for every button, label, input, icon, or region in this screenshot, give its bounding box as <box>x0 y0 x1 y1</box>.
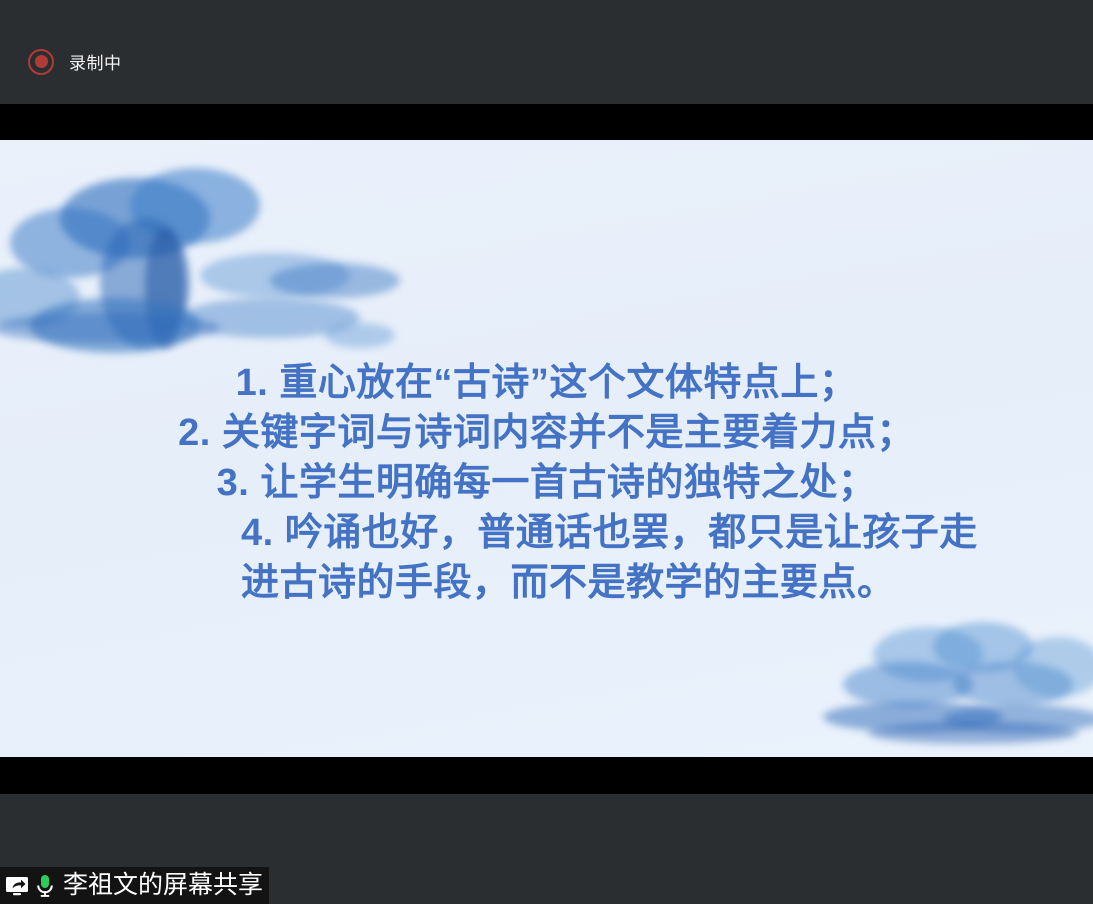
slide-line-4: 4. 吟诵也好，普通话也罢，都只是让孩子走进古诗的手段，而不是教学的主要点。 <box>196 508 993 608</box>
letterbox-bottom <box>0 757 1093 794</box>
slide-line-2: 2. 关键字词与诗词内容并不是主要着力点； <box>0 408 1093 458</box>
slide-line-1: 1. 重心放在“古诗”这个文体特点上； <box>0 358 1093 408</box>
ink-wash-landscape-bottom-right <box>813 617 1093 757</box>
ink-wash-landscape-top-left <box>0 148 400 358</box>
slide-line-3: 3. 让学生明确每一首古诗的独特之处； <box>0 458 1093 508</box>
screen-share-icon[interactable] <box>4 874 30 898</box>
microphone-icon[interactable] <box>34 873 56 899</box>
screen-share-indicator[interactable]: 李祖文的屏幕共享 <box>0 867 269 904</box>
slide-body-text: 1. 重心放在“古诗”这个文体特点上； 2. 关键字词与诗词内容并不是主要着力点… <box>0 358 1093 608</box>
recording-bar: 录制中 <box>0 0 1093 104</box>
recording-label: 录制中 <box>69 49 122 74</box>
record-dot-icon <box>28 49 54 75</box>
shared-slide: 1. 重心放在“古诗”这个文体特点上； 2. 关键字词与诗词内容并不是主要着力点… <box>0 140 1093 757</box>
letterbox-top <box>0 104 1093 140</box>
recording-indicator[interactable]: 录制中 <box>28 49 122 75</box>
share-owner-label: 李祖文的屏幕共享 <box>63 873 263 898</box>
